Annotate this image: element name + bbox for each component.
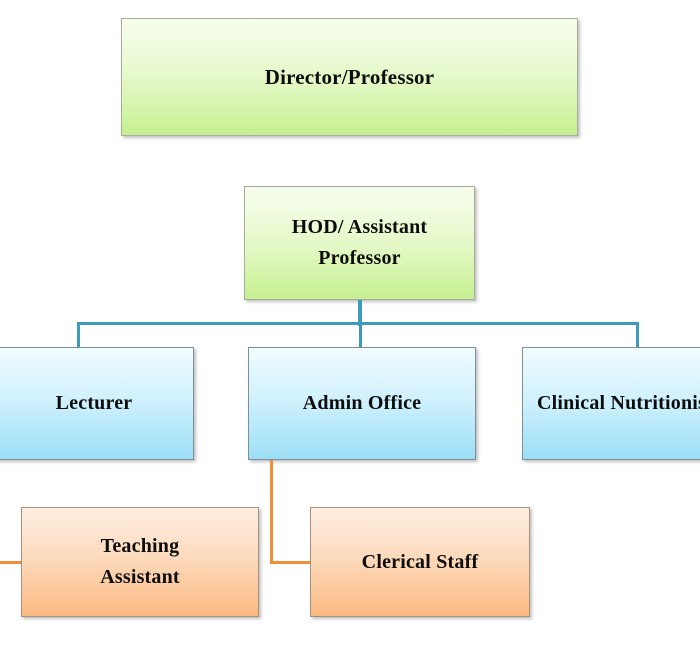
node-admin-office[interactable]: Admin Office bbox=[248, 347, 476, 460]
node-hod-assistant-professor-label-line1: HOD/ Assistant bbox=[292, 212, 428, 243]
node-hod-assistant-professor-label-line2: Professor bbox=[292, 243, 428, 274]
node-teaching-assistant-label-line2: Assistant bbox=[100, 562, 180, 593]
connector-lecturer-to-teaching-assistant bbox=[0, 561, 22, 564]
connector-drop-clinical-nutritionist bbox=[636, 322, 639, 349]
node-admin-office-label: Admin Office bbox=[303, 388, 422, 419]
connector-admin-office-drop bbox=[270, 460, 273, 564]
node-clerical-staff-label: Clerical Staff bbox=[362, 547, 479, 578]
node-clerical-staff[interactable]: Clerical Staff bbox=[310, 507, 530, 617]
connector-drop-admin-office bbox=[359, 322, 362, 349]
node-clinical-nutritionist-label: Clinical Nutritionist bbox=[537, 388, 700, 419]
node-teaching-assistant-label-line1: Teaching bbox=[100, 531, 180, 562]
connector-drop-lecturer bbox=[77, 322, 80, 349]
node-clinical-nutritionist[interactable]: Clinical Nutritionist bbox=[522, 347, 700, 460]
node-teaching-assistant[interactable]: Teaching Assistant bbox=[21, 507, 259, 617]
node-teaching-assistant-labelgroup: Teaching Assistant bbox=[100, 531, 180, 593]
node-lecturer[interactable]: Lecturer bbox=[0, 347, 194, 460]
node-hod-assistant-professor-labelgroup: HOD/ Assistant Professor bbox=[292, 212, 428, 274]
node-lecturer-label: Lecturer bbox=[56, 388, 133, 419]
connector-admin-office-to-clerical-staff bbox=[270, 561, 311, 564]
node-director-professor[interactable]: Director/Professor bbox=[121, 18, 578, 136]
connector-level3-bus bbox=[77, 322, 639, 325]
org-chart-canvas: Director/Professor HOD/ Assistant Profes… bbox=[0, 0, 700, 660]
node-hod-assistant-professor[interactable]: HOD/ Assistant Professor bbox=[244, 186, 475, 300]
node-director-professor-label: Director/Professor bbox=[265, 61, 435, 94]
